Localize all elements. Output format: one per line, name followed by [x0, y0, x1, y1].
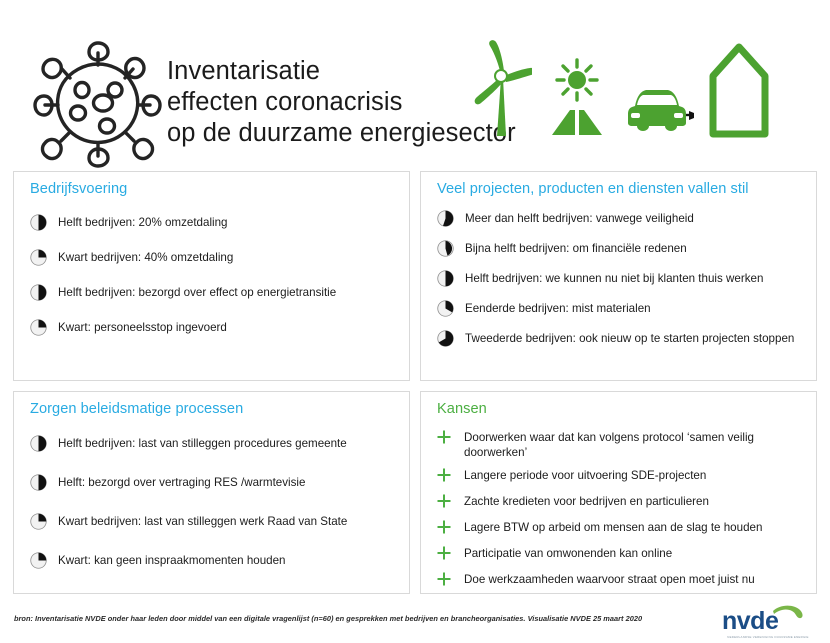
list-item-label: Meer dan helft bedrijven: vanwege veilig…: [465, 210, 694, 226]
list-item: Helft bedrijven: we kunnen nu niet bij k…: [437, 270, 806, 291]
panel-item-list: Helft bedrijven: 20% omzetdaling Kwart b…: [14, 197, 409, 340]
list-item: Langere periode voor uitvoering SDE-proj…: [437, 467, 806, 486]
plus-icon: [437, 494, 451, 512]
footer: bron: Inventarisatie NVDE onder haar led…: [0, 600, 830, 643]
pie-half-icon: [30, 284, 47, 305]
panel-beleidsmatige-processen: Zorgen beleidsmatige processen Helft bed…: [13, 391, 410, 594]
panel-title: Zorgen beleidsmatige processen: [14, 392, 409, 417]
list-item: Participatie van omwonenden kan online: [437, 545, 806, 564]
list-item-label: Doorwerken waar dat kan volgens protocol…: [464, 429, 806, 460]
pie-almost-half-icon: [437, 240, 454, 261]
list-item-label: Kwart bedrijven: 40% omzetdaling: [58, 249, 233, 265]
list-item-label: Helft bedrijven: 20% omzetdaling: [58, 214, 228, 230]
solar-panel-icon: [546, 56, 608, 143]
list-item: Bijna helft bedrijven: om financiële red…: [437, 240, 806, 261]
panel-kansen: Kansen Doorwerken waar dat kan volgens p…: [420, 391, 817, 594]
list-item: Meer dan helft bedrijven: vanwege veilig…: [437, 210, 806, 231]
list-item-label: Participatie van omwonenden kan online: [464, 545, 672, 561]
pie-half-icon: [437, 270, 454, 291]
panel-title: Kansen: [421, 392, 816, 417]
panel-bedrijfsvoering: Bedrijfsvoering Helft bedrijven: 20% omz…: [13, 171, 410, 381]
panel-projecten-stil: Veel projecten, producten en diensten va…: [420, 171, 817, 381]
list-item: Helft bedrijven: 20% omzetdaling: [30, 214, 399, 235]
pie-quarter-icon: [30, 552, 47, 573]
list-item: Kwart bedrijven: 40% omzetdaling: [30, 249, 399, 270]
infographic-page: Inventarisatie effecten coronacrisis op …: [0, 0, 830, 643]
plus-icon: [437, 520, 451, 538]
pie-half-icon: [30, 214, 47, 235]
list-item: Kwart bedrijven: last van stilleggen wer…: [30, 513, 399, 534]
list-item-label: Tweederde bedrijven: ook nieuw op te sta…: [465, 330, 794, 346]
pie-quarter-icon: [30, 249, 47, 270]
header: Inventarisatie effecten coronacrisis op …: [0, 0, 830, 168]
house-icon: [708, 42, 770, 143]
plus-icon: [437, 468, 451, 486]
panel-item-list: Doorwerken waar dat kan volgens protocol…: [421, 417, 816, 590]
list-item-label: Zachte kredieten voor bedrijven en parti…: [464, 493, 709, 509]
list-item: Helft bedrijven: bezorgd over effect op …: [30, 284, 399, 305]
panel-item-list: Meer dan helft bedrijven: vanwege veilig…: [421, 197, 816, 351]
list-item-label: Kwart: kan geen inspraakmomenten houden: [58, 552, 286, 568]
header-icon-row: [470, 38, 728, 143]
svg-text:nvde: nvde: [722, 607, 779, 635]
list-item-label: Eenderde bedrijven: mist materialen: [465, 300, 651, 316]
list-item: Kwart: kan geen inspraakmomenten houden: [30, 552, 399, 573]
list-item: Tweederde bedrijven: ook nieuw op te sta…: [437, 330, 806, 351]
panel-item-list: Helft bedrijven: last van stilleggen pro…: [14, 417, 409, 573]
pie-two-thirds-icon: [437, 330, 454, 351]
list-item-label: Langere periode voor uitvoering SDE-proj…: [464, 467, 706, 483]
panel-title: Veel projecten, producten en diensten va…: [421, 172, 816, 197]
pie-more-than-half-icon: [437, 210, 454, 231]
nvde-logo: nvde NEDERLANDSE VERENIGING DUURZAME ENE…: [718, 605, 818, 641]
panel-title: Bedrijfsvoering: [14, 172, 409, 197]
list-item: Kwart: personeelsstop ingevoerd: [30, 319, 399, 340]
nvde-logo-tagline: NEDERLANDSE VERENIGING DUURZAME ENERGIE: [718, 635, 818, 639]
list-item-label: Helft bedrijven: bezorgd over effect op …: [58, 284, 336, 300]
list-item-label: Helft bedrijven: we kunnen nu niet bij k…: [465, 270, 763, 286]
list-item-label: Lagere BTW op arbeid om mensen aan de sl…: [464, 519, 762, 535]
plus-icon: [437, 572, 451, 590]
source-note: bron: Inventarisatie NVDE onder haar led…: [14, 614, 642, 624]
list-item: Lagere BTW op arbeid om mensen aan de sl…: [437, 519, 806, 538]
list-item-label: Kwart: personeelsstop ingevoerd: [58, 319, 227, 335]
wind-turbine-icon: [470, 38, 532, 143]
plus-icon: [437, 546, 451, 564]
list-item-label: Doe werkzaamheden waarvoor straat open m…: [464, 571, 755, 587]
pie-quarter-icon: [30, 513, 47, 534]
list-item: Doorwerken waar dat kan volgens protocol…: [437, 429, 806, 460]
pie-third-icon: [437, 300, 454, 321]
list-item-label: Helft bedrijven: last van stilleggen pro…: [58, 435, 347, 451]
page-title: Inventarisatie effecten coronacrisis op …: [167, 56, 516, 149]
list-item: Helft bedrijven: last van stilleggen pro…: [30, 435, 399, 456]
pie-half-icon: [30, 435, 47, 456]
electric-car-icon: [622, 82, 694, 143]
list-item-label: Helft: bezorgd over vertraging RES /warm…: [58, 474, 305, 490]
pie-half-icon: [30, 474, 47, 495]
list-item-label: Kwart bedrijven: last van stilleggen wer…: [58, 513, 347, 529]
list-item: Eenderde bedrijven: mist materialen: [437, 300, 806, 321]
list-item: Doe werkzaamheden waarvoor straat open m…: [437, 571, 806, 590]
coronavirus-icon: [33, 38, 163, 168]
list-item: Helft: bezorgd over vertraging RES /warm…: [30, 474, 399, 495]
list-item-label: Bijna helft bedrijven: om financiële red…: [465, 240, 687, 256]
plus-icon: [437, 430, 451, 448]
pie-quarter-icon: [30, 319, 47, 340]
list-item: Zachte kredieten voor bedrijven en parti…: [437, 493, 806, 512]
